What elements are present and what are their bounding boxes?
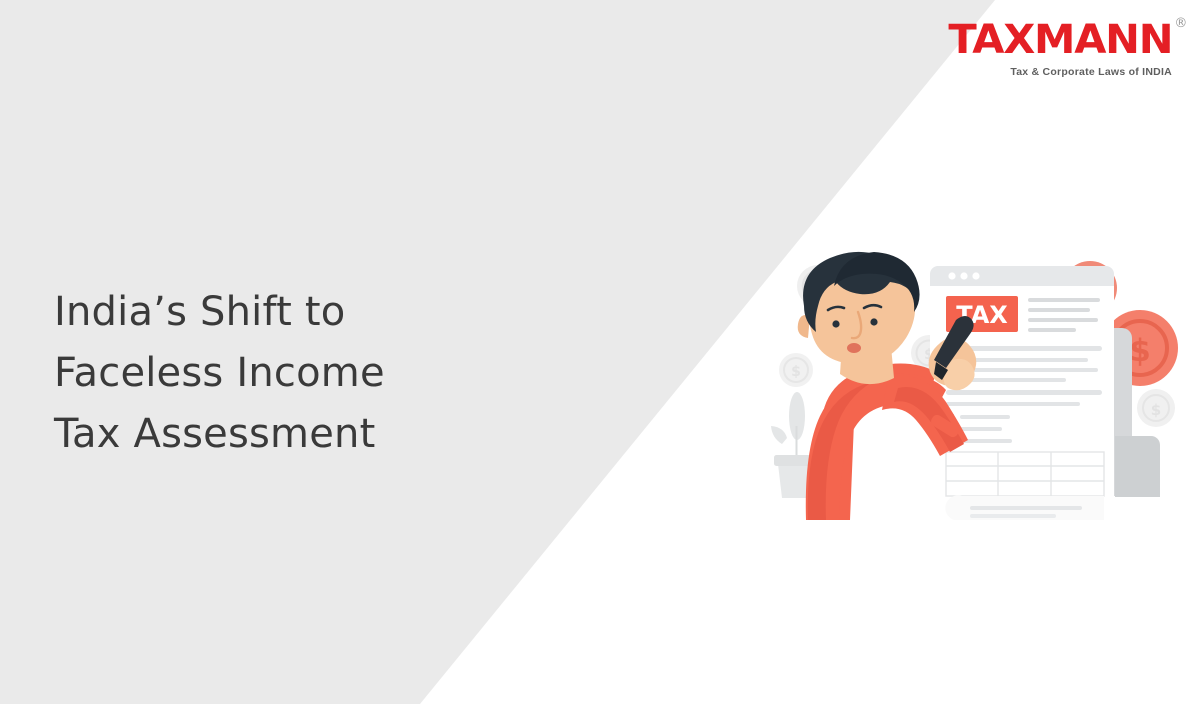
page-title: India’s Shift to Faceless Income Tax Ass… — [54, 282, 524, 464]
slide-canvas: TAXMANN ® Tax & Corporate Laws of INDIA … — [0, 0, 1200, 704]
logo-tagline: Tax & Corporate Laws of INDIA — [957, 67, 1172, 78]
svg-text:$: $ — [791, 364, 801, 380]
paper-fold-bottom — [945, 495, 1104, 520]
hero-illustration: $ $ $ $ — [770, 248, 1190, 520]
logo-wordmark: TAXMANN ® — [948, 20, 1172, 60]
svg-text:$: $ — [1151, 401, 1161, 419]
logo-wordmark-text: TAXMANN — [948, 17, 1172, 63]
registered-trademark-icon: ® — [1174, 17, 1187, 30]
svg-text:$: $ — [1129, 333, 1151, 369]
taxmann-logo[interactable]: TAXMANN ® Tax & Corporate Laws of INDIA — [957, 20, 1172, 78]
